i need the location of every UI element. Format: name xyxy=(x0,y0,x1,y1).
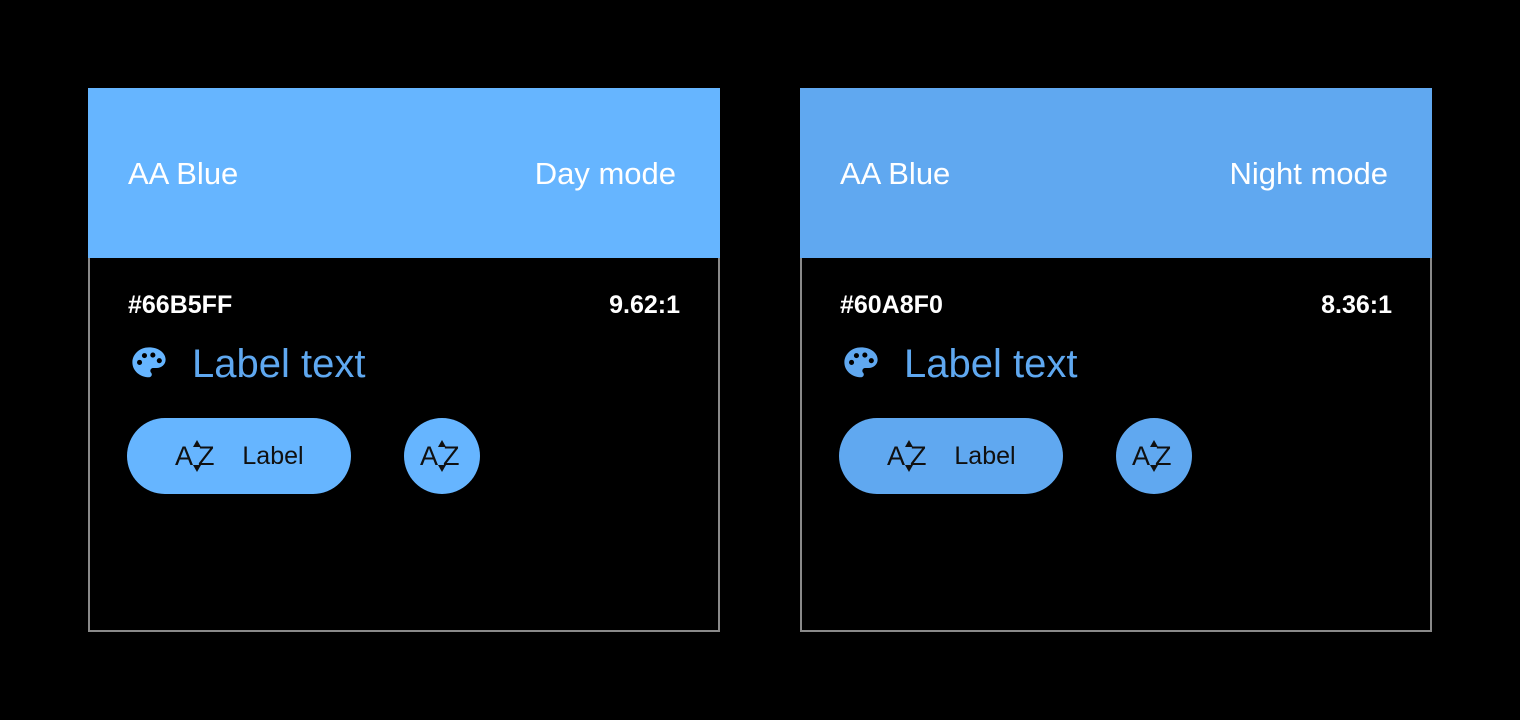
swatch-info-row-day: #66B5FF 9.62:1 xyxy=(90,258,718,318)
svg-text:A: A xyxy=(1132,441,1150,471)
button-row-day: A Z Label A Z xyxy=(90,385,718,494)
sort-alpha-icon: A Z xyxy=(419,436,465,476)
contrast-ratio-value-day: 9.62:1 xyxy=(609,293,680,318)
svg-text:A: A xyxy=(420,441,438,471)
panel-title-day: AA Blue xyxy=(128,158,238,189)
button-row-night: A Z Label A Z xyxy=(802,385,1430,494)
label-text-day: Label text xyxy=(192,344,365,384)
label-row-day: Label text xyxy=(90,318,718,385)
swatch-hex-value-night: #60A8F0 xyxy=(840,293,943,318)
screen-background: AA Blue Day mode #66B5FF 9.62:1 xyxy=(0,0,1520,720)
svg-text:Z: Z xyxy=(1155,441,1172,471)
svg-text:Z: Z xyxy=(910,441,927,471)
sort-alpha-icon: A Z xyxy=(174,436,220,476)
label-text-night: Label text xyxy=(904,344,1077,384)
svg-text:Z: Z xyxy=(443,441,460,471)
sort-label-button-text-night: Label xyxy=(954,444,1015,469)
swatch-panel-night: AA Blue Night mode #60A8F0 8.36:1 xyxy=(800,88,1432,632)
swatch-panel-day: AA Blue Day mode #66B5FF 9.62:1 xyxy=(88,88,720,632)
swatch-hex-value-day: #66B5FF xyxy=(128,293,232,318)
palette-icon xyxy=(840,343,882,385)
panel-body-day: #66B5FF 9.62:1 Label text xyxy=(88,258,720,632)
svg-text:A: A xyxy=(887,441,905,471)
swatch-info-row-night: #60A8F0 8.36:1 xyxy=(802,258,1430,318)
panel-mode-night: Night mode xyxy=(1229,158,1388,189)
label-row-night: Label text xyxy=(802,318,1430,385)
sort-icon-button-day[interactable]: A Z xyxy=(404,418,480,494)
sort-alpha-icon: A Z xyxy=(1131,436,1177,476)
sort-label-button-day[interactable]: A Z Label xyxy=(127,418,351,494)
sort-label-button-text-day: Label xyxy=(242,444,303,469)
panel-mode-day: Day mode xyxy=(535,158,676,189)
panel-header-night: AA Blue Night mode xyxy=(800,88,1432,258)
sort-alpha-icon: A Z xyxy=(886,436,932,476)
palette-icon xyxy=(128,343,170,385)
sort-icon-button-night[interactable]: A Z xyxy=(1116,418,1192,494)
sort-label-button-night[interactable]: A Z Label xyxy=(839,418,1063,494)
panel-title-night: AA Blue xyxy=(840,158,950,189)
svg-text:A: A xyxy=(175,441,193,471)
contrast-ratio-value-night: 8.36:1 xyxy=(1321,293,1392,318)
svg-text:Z: Z xyxy=(198,441,215,471)
panel-header-day: AA Blue Day mode xyxy=(88,88,720,258)
panel-body-night: #60A8F0 8.36:1 Label text xyxy=(800,258,1432,632)
